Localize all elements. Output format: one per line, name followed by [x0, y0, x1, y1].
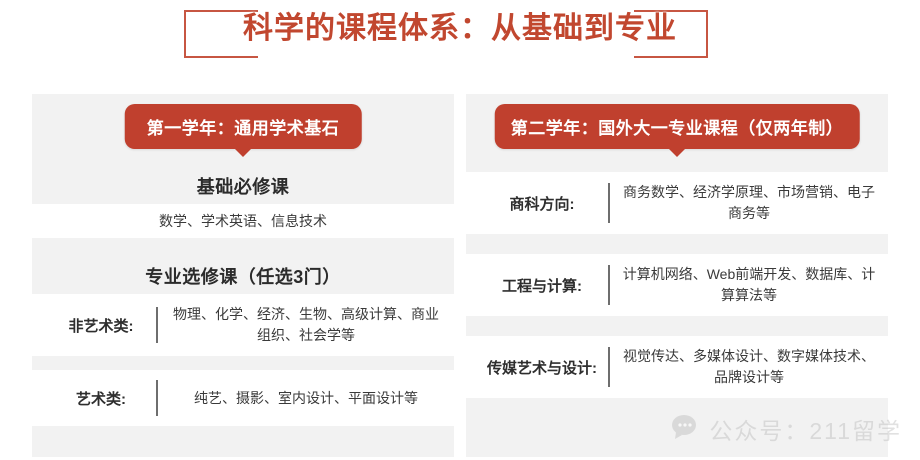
year-one-badge: 第一学年：通用学术基石 — [125, 104, 362, 149]
row-value: 物理、化学、经济、生物、高级计算、商业组织、社会学等 — [158, 304, 454, 346]
row-value: 视觉传达、多媒体设计、数字媒体技术、品牌设计等 — [610, 346, 888, 388]
section-heading-row: 专业选修课（任选3门） — [32, 258, 454, 294]
row-label: 商科方向: — [466, 193, 608, 214]
table-row: 非艺术类: 物理、化学、经济、生物、高级计算、商业组织、社会学等 — [32, 294, 454, 356]
year-two-badge-tail-icon — [666, 146, 688, 157]
table-row: 传媒艺术与设计: 视觉传达、多媒体设计、数字媒体技术、品牌设计等 — [466, 336, 888, 398]
panel-year-two: 第二学年：国外大一专业课程（仅两年制） 商科方向: 商务数学、经济学原理、市场营… — [466, 94, 888, 457]
year-one-badge-wrap: 第一学年：通用学术基石 — [32, 94, 454, 152]
row-value: 商务数学、经济学原理、市场营销、电子商务等 — [610, 182, 888, 224]
page-header: 科学的课程体系：从基础到专业 — [0, 0, 920, 78]
section-heading-elective: 专业选修课（任选3门） — [32, 263, 454, 289]
row-label: 传媒艺术与设计: — [466, 357, 608, 378]
table-row: 艺术类: 纯艺、摄影、室内设计、平面设计等 — [32, 370, 454, 426]
section-note-core: 数学、学术英语、信息技术 — [159, 211, 327, 231]
spacer — [32, 356, 454, 370]
year-one-badge-tail-icon — [232, 146, 254, 157]
section-heading-core: 基础必修课 — [32, 173, 454, 199]
spacer — [32, 238, 454, 258]
row-label: 艺术类: — [32, 388, 156, 409]
row-label: 非艺术类: — [32, 315, 156, 336]
section-heading-row: 基础必修课 — [32, 168, 454, 204]
spacer — [466, 316, 888, 336]
section-note-row-core: 数学、学术英语、信息技术 — [32, 204, 454, 238]
panel-year-one: 第一学年：通用学术基石 基础必修课 数学、学术英语、信息技术 专业选修课（任选3… — [32, 94, 454, 457]
year-two-badge: 第二学年：国外大一专业课程（仅两年制） — [495, 104, 860, 149]
row-value: 计算机网络、Web前端开发、数据库、计算算法等 — [610, 264, 888, 306]
row-value: 纯艺、摄影、室内设计、平面设计等 — [158, 388, 454, 409]
table-row: 工程与计算: 计算机网络、Web前端开发、数据库、计算算法等 — [466, 254, 888, 316]
year-two-badge-wrap: 第二学年：国外大一专业课程（仅两年制） — [466, 94, 888, 152]
page-title: 科学的课程体系：从基础到专业 — [0, 0, 920, 58]
row-label: 工程与计算: — [466, 275, 608, 296]
spacer — [466, 234, 888, 254]
table-row: 商科方向: 商务数学、经济学原理、市场营销、电子商务等 — [466, 172, 888, 234]
curriculum-columns: 第一学年：通用学术基石 基础必修课 数学、学术英语、信息技术 专业选修课（任选3… — [0, 94, 920, 460]
